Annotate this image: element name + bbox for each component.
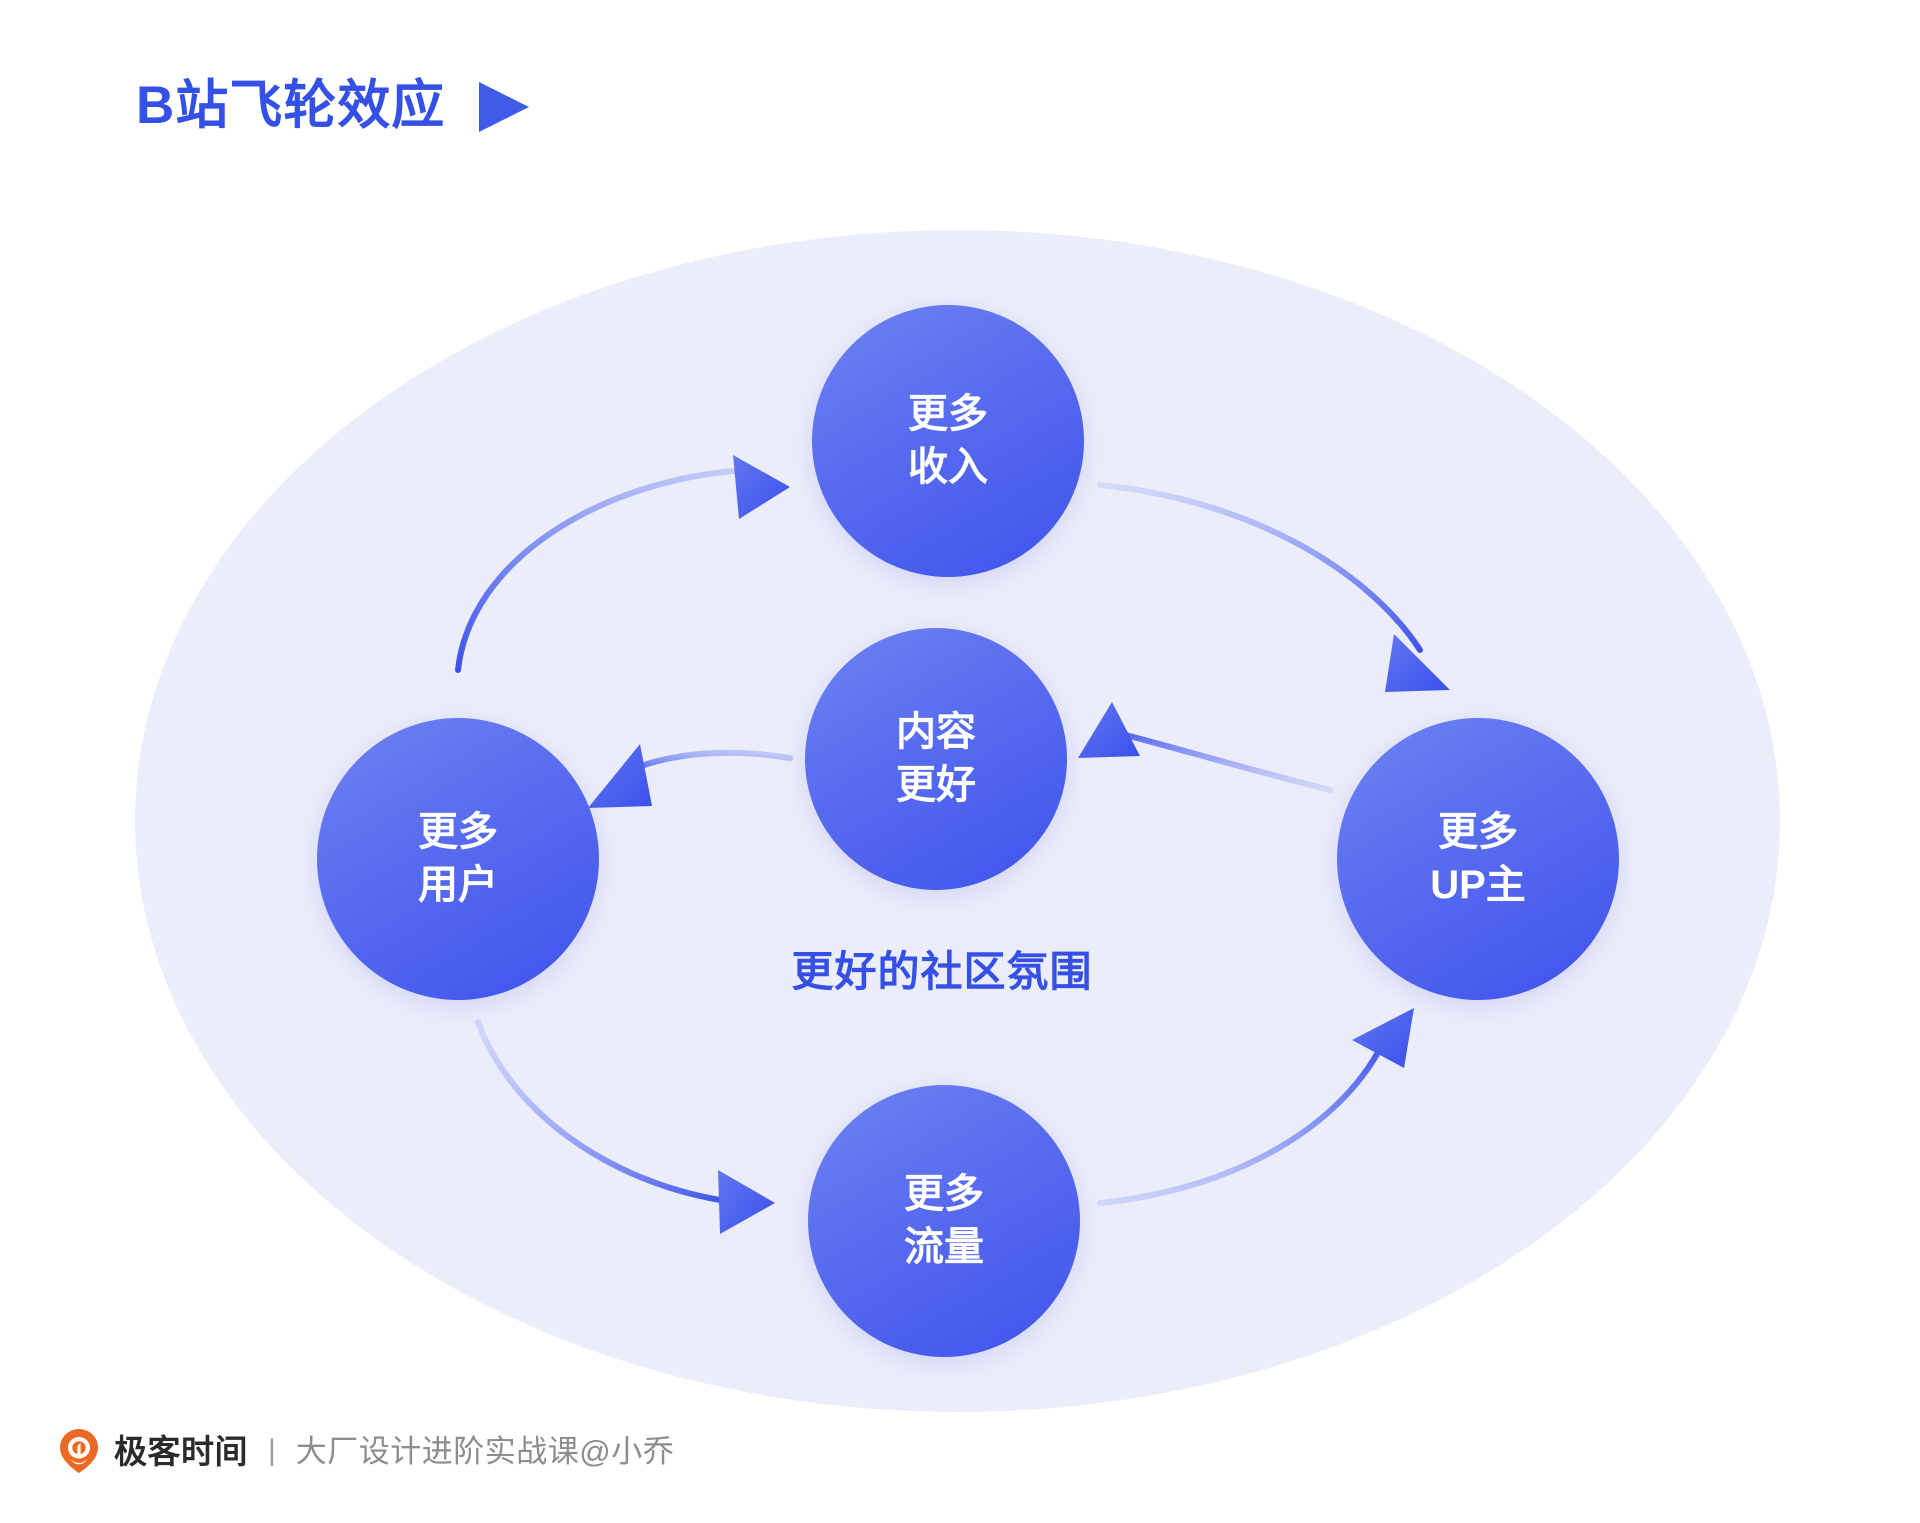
footer-course-name: 大厂设计进阶实战课@小乔 bbox=[296, 1436, 674, 1467]
node-income-line2: 收入 bbox=[908, 441, 988, 494]
diagram-center-caption-text: 更好的社区氛围 bbox=[791, 948, 1092, 995]
node-traffic-line1: 更多 bbox=[904, 1168, 984, 1221]
diagram-center-caption: 更好的社区氛围 bbox=[0, 938, 1920, 999]
node-users-line1: 更多 bbox=[418, 806, 498, 859]
node-users-line2: 用户 bbox=[418, 859, 498, 912]
node-creators-line2: UP主 bbox=[1430, 859, 1526, 912]
geekbang-pin-logo-icon bbox=[58, 1428, 100, 1474]
node-more-traffic[interactable]: 更多 流量 bbox=[808, 1085, 1080, 1357]
footer: 极客时间 | 大厂设计进阶实战课@小乔 bbox=[58, 1428, 674, 1474]
footer-brand-name: 极客时间 bbox=[114, 1435, 248, 1468]
node-better-content[interactable]: 内容 更好 bbox=[805, 628, 1067, 890]
footer-separator: | bbox=[262, 1436, 282, 1466]
node-income-line1: 更多 bbox=[908, 388, 988, 441]
node-creators-line1: 更多 bbox=[1438, 806, 1518, 859]
node-traffic-line2: 流量 bbox=[904, 1221, 984, 1274]
node-more-income[interactable]: 更多 收入 bbox=[812, 305, 1084, 577]
slide-canvas: B站飞轮效应 bbox=[0, 0, 1920, 1523]
node-content-line2: 更好 bbox=[896, 759, 976, 812]
node-content-line1: 内容 bbox=[896, 706, 976, 759]
flywheel-diagram: 更多 收入 内容 更好 更多 用户 更多 UP主 更多 流量 更好的社区氛围 bbox=[0, 0, 1920, 1523]
